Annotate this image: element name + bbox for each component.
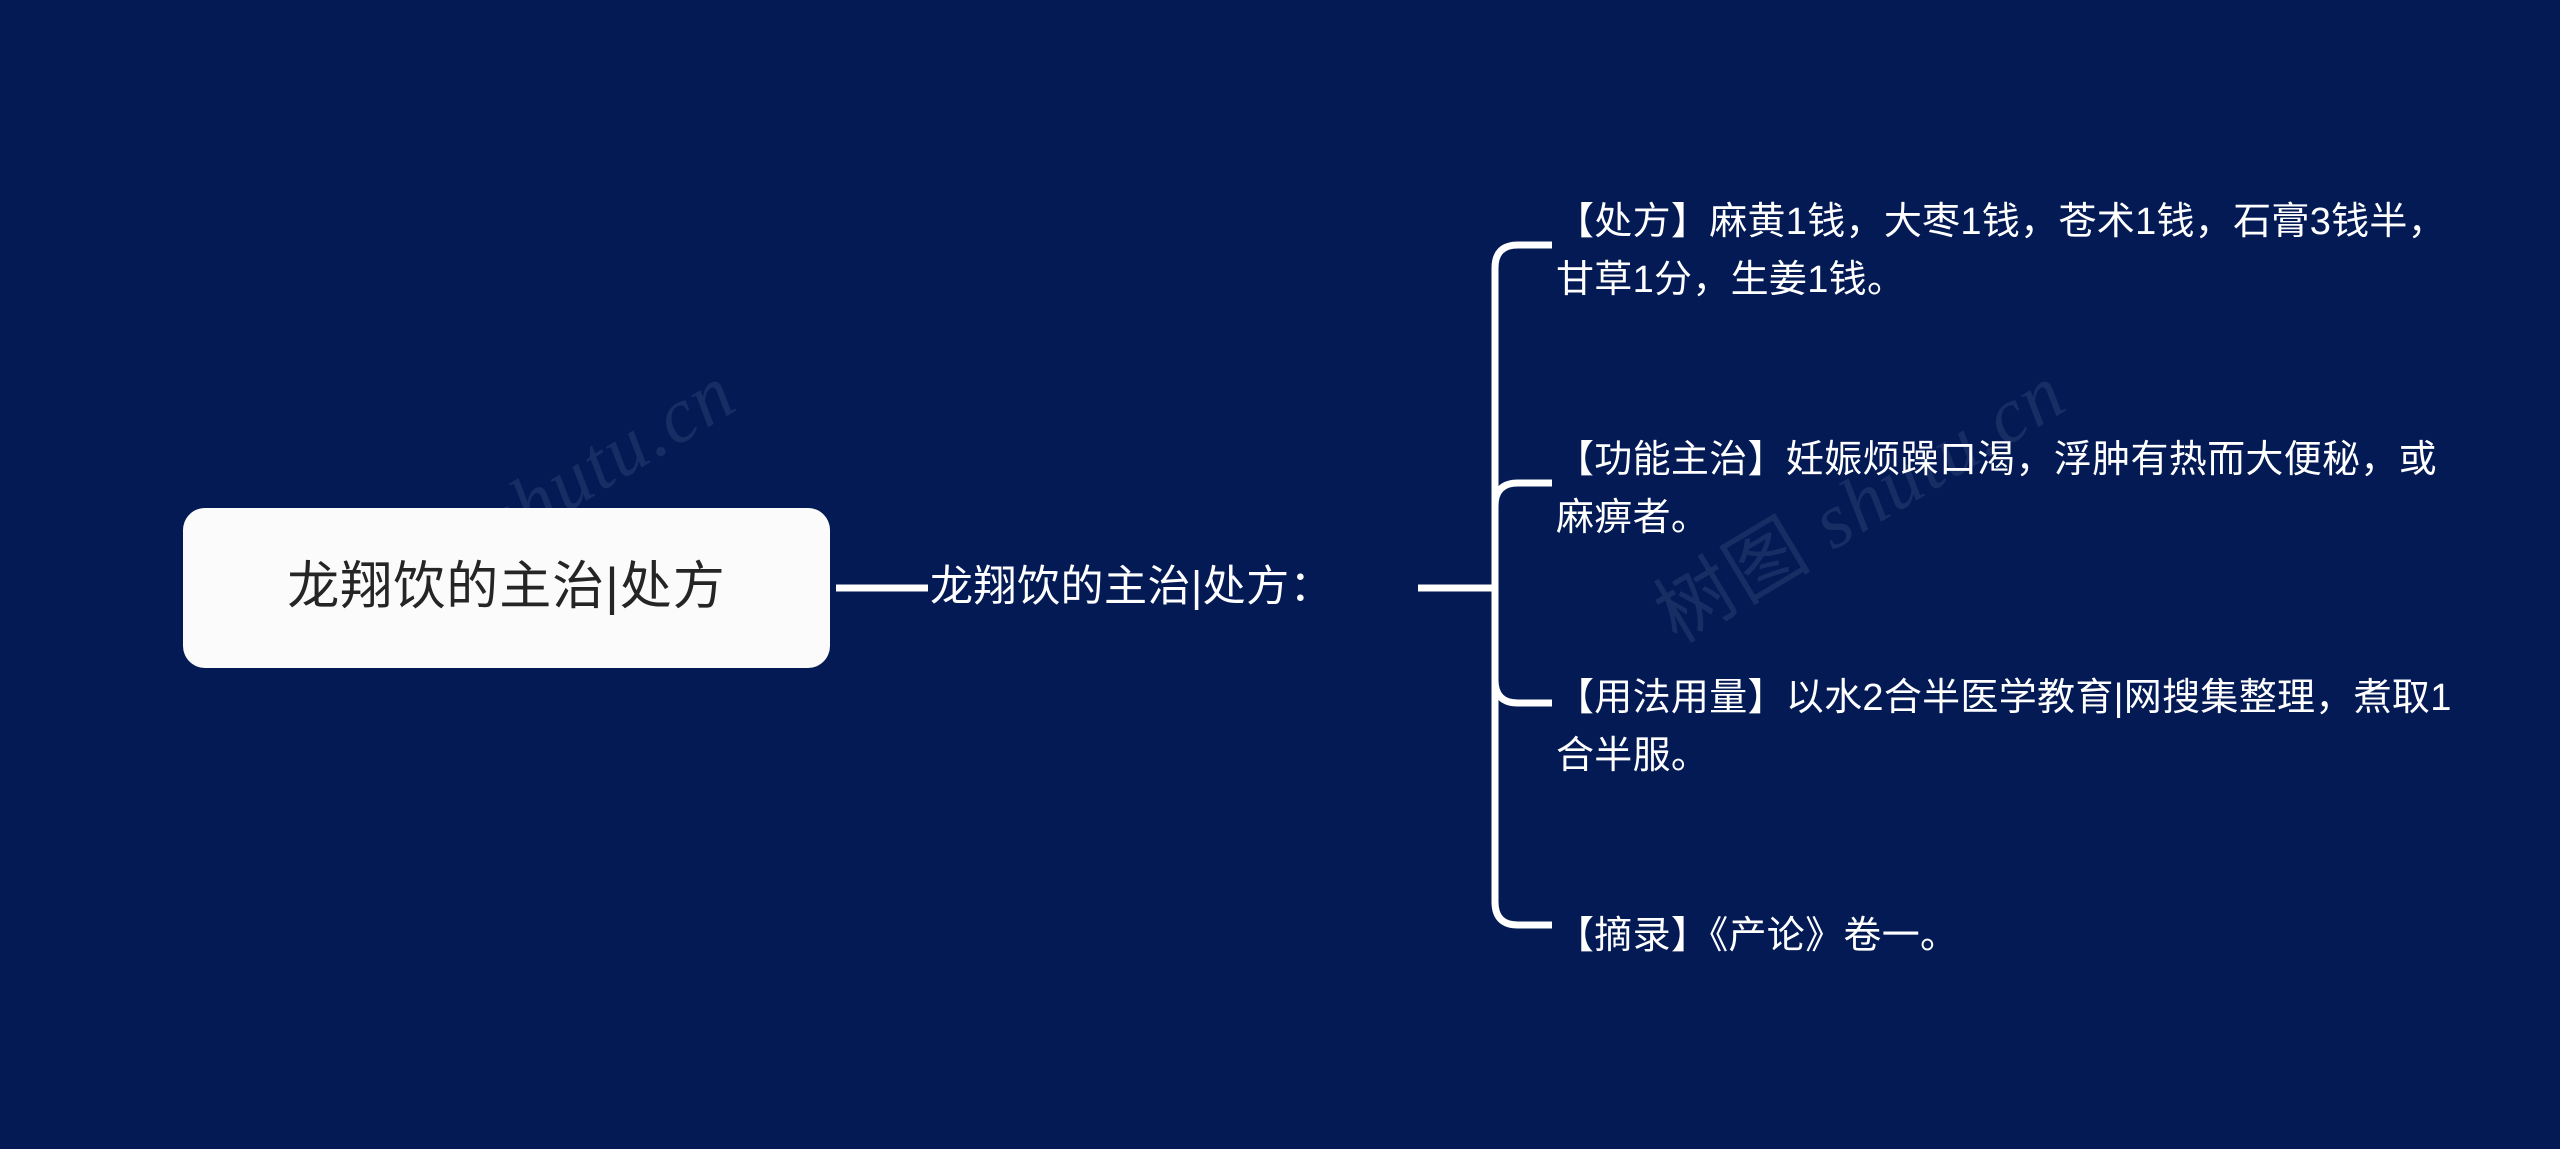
connector-branch-3 xyxy=(1495,902,1552,925)
branch-node-dosage[interactable]: 【用法用量】以水2合半医学教育|网搜集整理，煮取1合半服。 xyxy=(1556,670,2456,786)
branch-node-prescription[interactable]: 【处方】麻黄1钱，大枣1钱，苍术1钱，石膏3钱半，甘草1分，生姜1钱。 xyxy=(1556,194,2456,310)
connector-branch-1 xyxy=(1495,483,1552,506)
mindmap-canvas: 树图 shutu.cn 树图 shutu.cn 龙翔饮的主治|处方 龙翔饮的主治… xyxy=(0,0,2560,1149)
branch-node-label: 【用法用量】以水2合半医学教育|网搜集整理，煮取1合半服。 xyxy=(1556,670,2456,786)
branch-node-label: 【处方】麻黄1钱，大枣1钱，苍术1钱，石膏3钱半，甘草1分，生姜1钱。 xyxy=(1556,194,2456,310)
branch-node-label: 【功能主治】妊娠烦躁口渴，浮肿有热而大便秘，或麻痹者。 xyxy=(1556,432,2456,548)
branch-node-label: 【摘录】《产论》卷一。 xyxy=(1556,908,2456,966)
branch-node-source[interactable]: 【摘录】《产论》卷一。 xyxy=(1556,908,2456,966)
connector-branch-2 xyxy=(1495,680,1552,703)
trunk-node-label: 龙翔饮的主治|处方： xyxy=(930,562,1333,614)
connector-branch-0 xyxy=(1495,245,1552,268)
root-node-label: 龙翔饮的主治|处方 xyxy=(287,557,726,618)
root-node[interactable]: 龙翔饮的主治|处方 xyxy=(183,508,830,668)
trunk-node[interactable]: 龙翔饮的主治|处方： xyxy=(930,552,1450,624)
branch-node-indications[interactable]: 【功能主治】妊娠烦躁口渴，浮肿有热而大便秘，或麻痹者。 xyxy=(1556,432,2456,548)
